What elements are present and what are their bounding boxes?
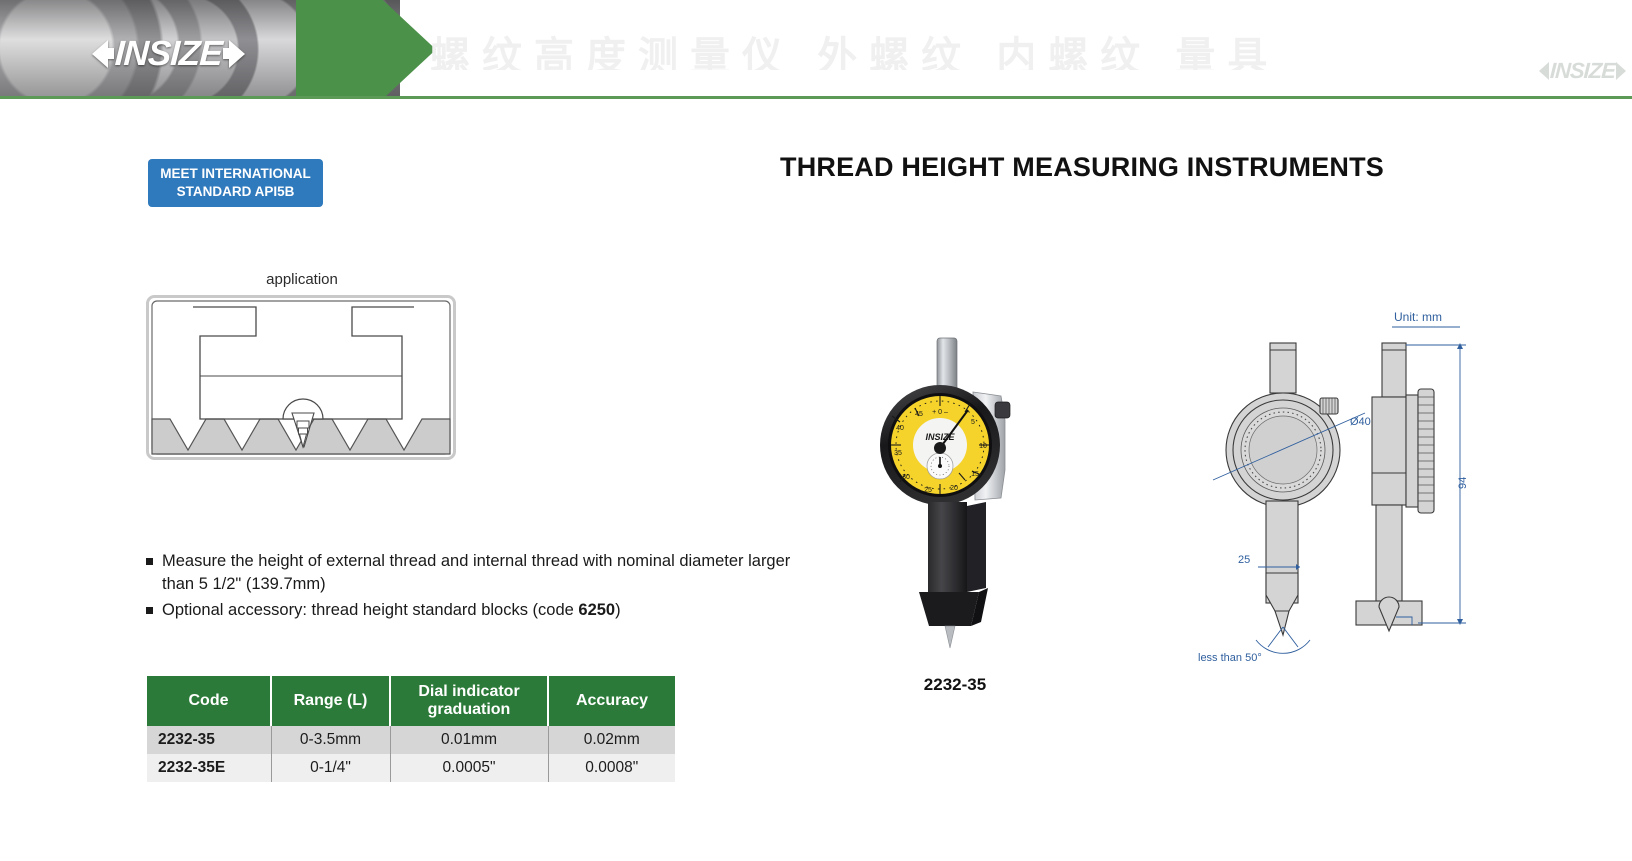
dim-25-label: 25 [1238, 554, 1250, 566]
feature-item: Measure the height of external thread an… [146, 550, 796, 597]
insize-watermark-logo: INSIZE [1539, 60, 1626, 82]
cell-graduation: 0.0005" [390, 754, 548, 782]
product-caption: 2232-35 [855, 675, 1055, 695]
header-watermark-text: 螺纹高度测量仪 外螺纹 内螺纹 量具 [430, 24, 1290, 70]
watermark-logo-left-arrow-icon [1539, 62, 1549, 80]
cell-accuracy: 0.02mm [548, 726, 675, 754]
cell-code: 2232-35 [147, 726, 271, 754]
logo-text: INSIZE [113, 36, 224, 71]
column-header-graduation: Dial indicator graduation [390, 676, 548, 726]
standard-badge: MEET INTERNATIONAL STANDARD API5B [148, 159, 323, 207]
table-row: 2232-35 0-3.5mm 0.01mm 0.02mm [147, 726, 675, 754]
cell-range: 0-1/4" [271, 754, 390, 782]
feature-item-text-2: Optional accessory: thread height standa… [162, 599, 621, 622]
table-header-row: Code Range (L) Dial indicator graduation… [147, 676, 675, 726]
product-photo-svg: + 0 – 5 10 15 20 25 30 35 40 45 INSIZE [855, 330, 1055, 660]
bullet-square-icon [146, 607, 153, 614]
svg-text:40: 40 [896, 425, 904, 432]
angle-note-label: less than 50° [1198, 652, 1262, 664]
feature-text-post-2: ) [615, 601, 621, 619]
dim-94-label: 94 [1457, 477, 1469, 489]
feature-item: Optional accessory: thread height standa… [146, 599, 796, 622]
header-divider-rule [0, 96, 1632, 99]
svg-text:45: 45 [915, 411, 923, 418]
cell-code: 2232-35E [147, 754, 271, 782]
svg-text:5: 5 [971, 419, 975, 426]
drawing-side-view: 94 Unit: mm [1356, 310, 1469, 631]
feature-list: Measure the height of external thread an… [146, 550, 796, 624]
page-header: 螺纹高度测量仪 外螺纹 内螺纹 量具 INSIZE INSIZE [0, 0, 1632, 99]
technical-drawing: .pt { fill:#d4d4d4; stroke:#3a3a3a; stro… [1160, 305, 1490, 665]
accessory-code: 6250 [578, 601, 615, 619]
application-label: application [147, 271, 457, 288]
svg-text:15: 15 [971, 471, 979, 478]
application-diagram-svg [146, 295, 456, 460]
angle-arc [1256, 640, 1310, 653]
cell-range: 0-3.5mm [271, 726, 390, 754]
badge-line-1: MEET INTERNATIONAL [160, 165, 311, 183]
svg-text:35: 35 [894, 450, 902, 457]
svg-text:25: 25 [924, 487, 932, 494]
header-green-chevron [296, 0, 436, 99]
column-header-range: Range (L) [271, 676, 390, 726]
drawing-front-view: Ø40 25 less than 50° [1198, 343, 1371, 664]
feature-text-pre-1: Measure the height of external thread an… [162, 552, 790, 593]
page-root: 螺纹高度测量仪 外螺纹 内螺纹 量具 INSIZE INSIZE MEET IN… [0, 0, 1632, 861]
insize-logo: INSIZE [92, 36, 245, 71]
svg-text:+ 0 –: + 0 – [932, 409, 948, 416]
badge-line-2: STANDARD API5B [177, 183, 295, 201]
column-header-accuracy: Accuracy [548, 676, 675, 726]
watermark-logo-right-arrow-icon [1616, 62, 1626, 80]
cell-accuracy: 0.0008" [548, 754, 675, 782]
column-header-code: Code [147, 676, 271, 726]
logo-left-arrow-icon [92, 40, 108, 68]
product-photo: + 0 – 5 10 15 20 25 30 35 40 45 INSIZE [855, 330, 1055, 660]
cell-graduation: 0.01mm [390, 726, 548, 754]
page-title: THREAD HEIGHT MEASURING INSTRUMENTS [780, 152, 1480, 183]
svg-text:10: 10 [979, 443, 987, 450]
logo-right-arrow-icon [229, 40, 245, 68]
watermark-logo-text: INSIZE [1549, 60, 1617, 82]
bullet-square-icon [146, 558, 153, 565]
feature-text-pre-2: Optional accessory: thread height standa… [162, 601, 578, 619]
svg-text:30: 30 [902, 474, 910, 481]
application-diagram [146, 295, 456, 460]
unit-label: Unit: mm [1394, 310, 1442, 324]
svg-text:20: 20 [950, 485, 958, 492]
specification-table: Code Range (L) Dial indicator graduation… [147, 676, 675, 782]
dim-diameter-label: Ø40 [1350, 416, 1371, 428]
feature-item-text-1: Measure the height of external thread an… [162, 550, 796, 597]
table-row: 2232-35E 0-1/4" 0.0005" 0.0008" [147, 754, 675, 782]
technical-drawing-svg: .pt { fill:#d4d4d4; stroke:#3a3a3a; stro… [1160, 305, 1490, 665]
